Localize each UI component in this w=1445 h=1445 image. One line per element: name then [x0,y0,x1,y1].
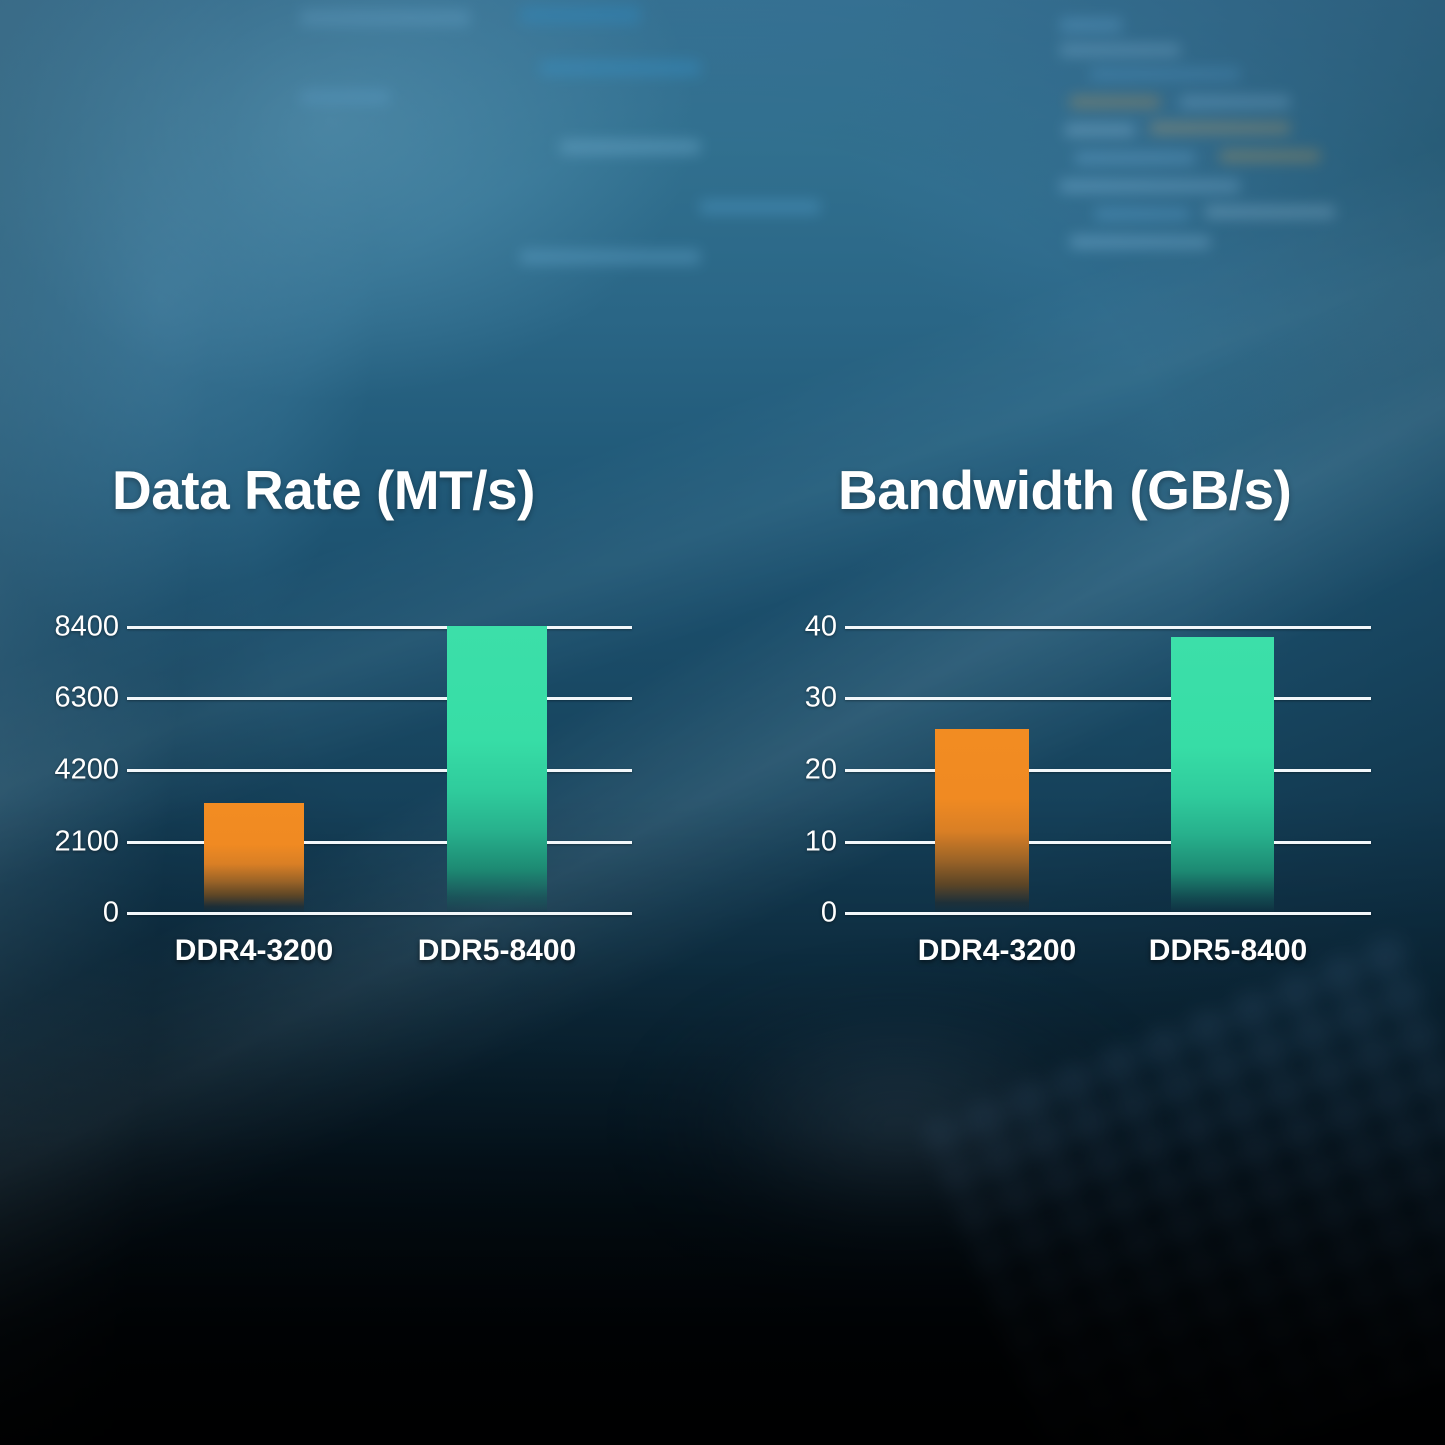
gridline-6300 [127,697,632,700]
xtick-label-ddr5-bandwidth: DDR5-8400 [1149,934,1307,968]
chart-data-rate: Data Rate (MT/s) 8400 6300 4200 2100 0 D… [0,0,700,1000]
gridline-40 [845,626,1371,629]
ytick-label-30: 30 [805,682,837,715]
ytick-label-10: 10 [805,826,837,859]
gridline-2100 [127,841,632,844]
plot-area-bandwidth: 40 30 20 10 0 DDR4-3200 DDR5-8400 [845,626,1371,912]
chart-bandwidth: Bandwidth (GB/s) 40 30 20 10 0 DDR4-3200… [720,0,1445,1000]
ytick-label-8400: 8400 [54,611,119,644]
plot-area-data-rate: 8400 6300 4200 2100 0 DDR4-3200 DDR5-840… [127,626,632,912]
bar-ddr4-3200-bandwidth [935,729,1029,912]
ytick-label-40: 40 [805,611,837,644]
gridline-0 [845,912,1371,915]
ytick-label-4200: 4200 [54,754,119,787]
xtick-label-ddr4-bandwidth: DDR4-3200 [918,934,1076,968]
gridline-10 [845,841,1371,844]
bar-ddr5-8400-data-rate [447,626,547,912]
ytick-label-20: 20 [805,754,837,787]
bar-ddr4-3200-data-rate [204,803,304,912]
ytick-label-0: 0 [103,897,119,930]
ytick-label-6300: 6300 [54,682,119,715]
xtick-label-ddr4-data-rate: DDR4-3200 [175,934,333,968]
chart-title-data-rate: Data Rate (MT/s) [112,458,535,522]
xtick-label-ddr5-data-rate: DDR5-8400 [418,934,576,968]
gridline-4200 [127,769,632,772]
ytick-label-0: 0 [821,897,837,930]
gridline-20 [845,769,1371,772]
gridline-30 [845,697,1371,700]
ytick-label-2100: 2100 [54,826,119,859]
gridline-8400 [127,626,632,629]
chart-title-bandwidth: Bandwidth (GB/s) [838,458,1291,522]
gridline-0 [127,912,632,915]
infographic-canvas: Data Rate (MT/s) 8400 6300 4200 2100 0 D… [0,0,1445,1445]
bar-ddr5-8400-bandwidth [1171,637,1274,912]
